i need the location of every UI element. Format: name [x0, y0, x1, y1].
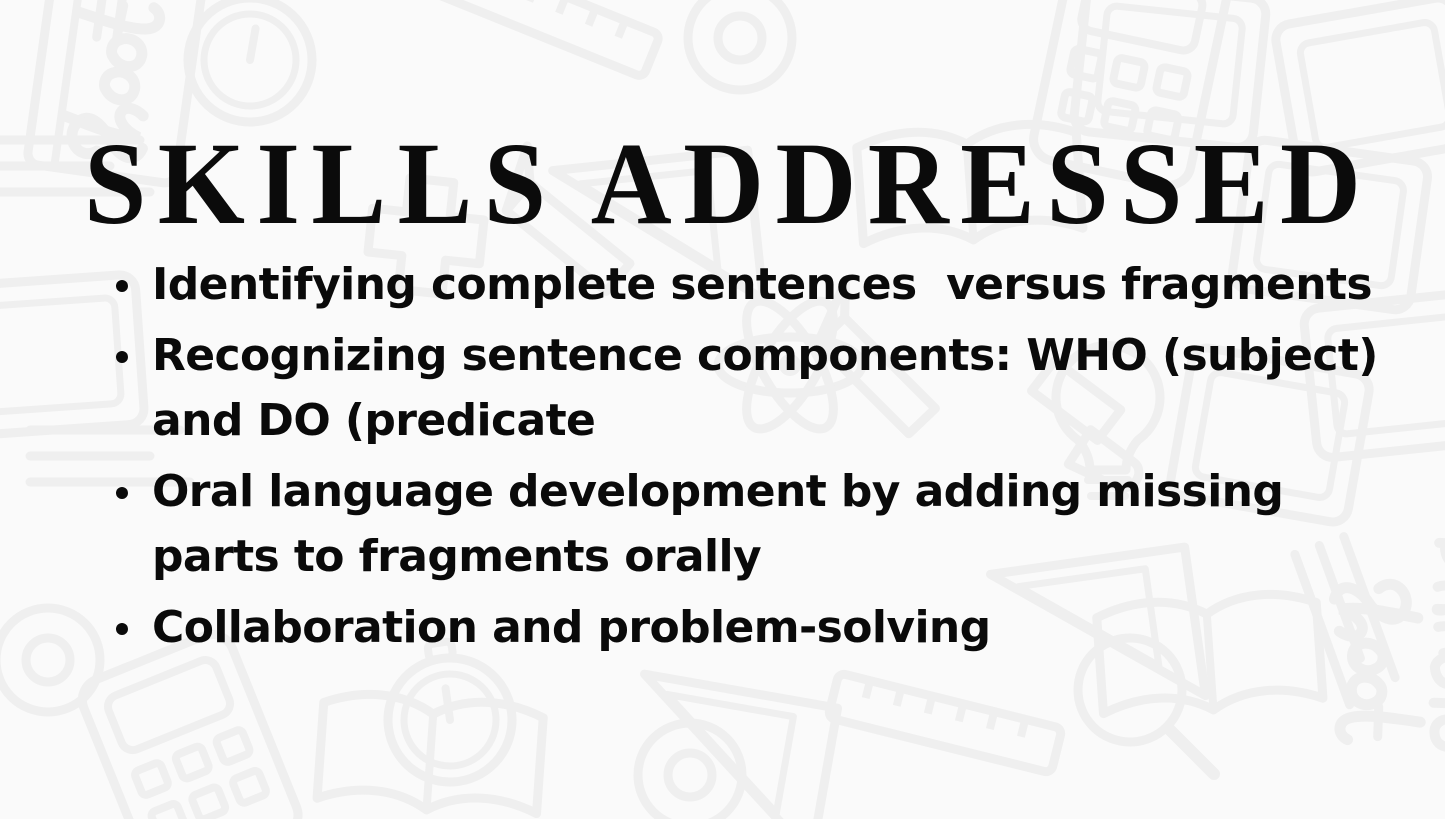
page-title: SKILLS ADDRESSED — [36, 125, 1409, 243]
list-item-label: Oral language development by adding miss… — [152, 466, 1298, 582]
bullet-dot-icon — [116, 623, 128, 635]
list-item: Identifying complete sentences versus fr… — [104, 252, 1394, 317]
list-item: Recognizing sentence components: WHO (su… — [104, 323, 1394, 453]
list-item-label: Collaboration and problem-solving — [152, 602, 991, 653]
slide-content: SKILLS ADDRESSED Identifying complete se… — [0, 0, 1445, 819]
bullet-dot-icon — [116, 280, 128, 292]
list-item: Collaboration and problem-solving — [104, 595, 1394, 660]
bullet-dot-icon — [116, 487, 128, 499]
list-item-label: Identifying complete sentences versus fr… — [152, 259, 1372, 310]
bullet-dot-icon — [116, 351, 128, 363]
list-item-label: Recognizing sentence components: WHO (su… — [152, 330, 1393, 446]
list-item: Oral language development by adding miss… — [104, 459, 1394, 589]
slide-canvas: SKILLS ADDRESSED Identifying complete se… — [0, 0, 1445, 819]
skills-bullet-list: Identifying complete sentences versus fr… — [104, 252, 1394, 666]
